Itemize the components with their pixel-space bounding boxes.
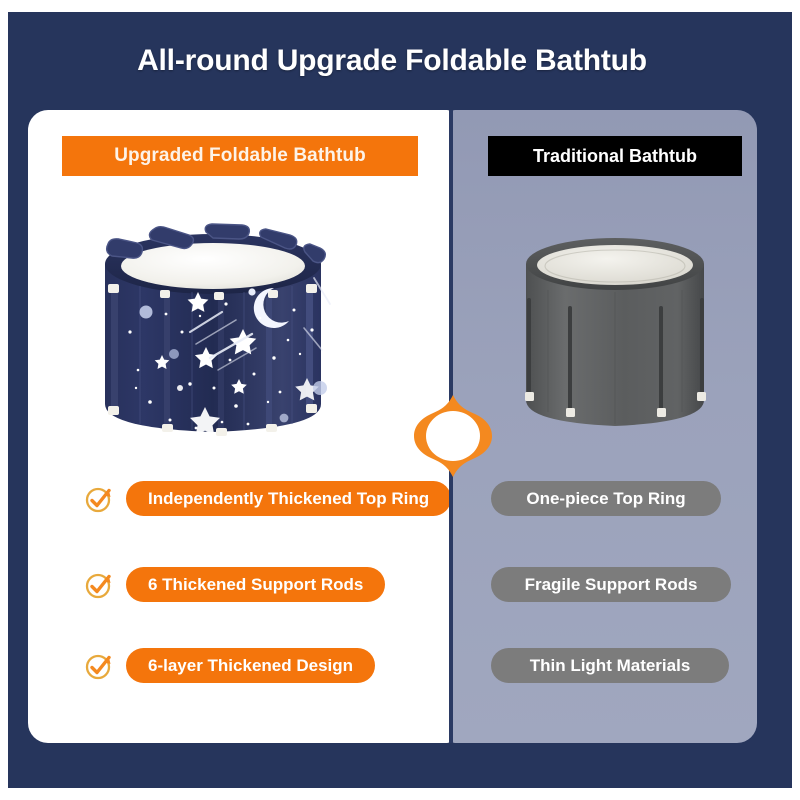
badge-traditional-bathtub: Traditional Bathtub — [488, 136, 742, 176]
feature-label-left-2: 6 Thickened Support Rods — [148, 575, 363, 595]
badge-upgraded-foldable-bathtub: Upgraded Foldable Bathtub — [62, 136, 418, 176]
product-comparison-infographic: All-round Upgrade Foldable Bathtub Upgra… — [0, 0, 800, 800]
feature-pill-right-1: One-piece Top Ring — [491, 481, 721, 516]
feature-row-left-2: 6 Thickened Support Rods — [84, 567, 385, 602]
feature-pill-right-2: Fragile Support Rods — [491, 567, 731, 602]
feature-pill-left-3: 6-layer Thickened Design — [126, 648, 375, 683]
feature-pill-right-3: Thin Light Materials — [491, 648, 729, 683]
feature-label-left-1: Independently Thickened Top Ring — [148, 489, 429, 509]
page-title: All-round Upgrade Foldable Bathtub — [0, 44, 784, 78]
badge-upgraded-label: Upgraded Foldable Bathtub — [114, 145, 366, 167]
feature-pill-left-1: Independently Thickened Top Ring — [126, 481, 451, 516]
feature-row-left-1: Independently Thickened Top Ring — [84, 481, 451, 516]
feature-label-left-3: 6-layer Thickened Design — [148, 656, 353, 676]
product-image-upgraded-bathtub — [78, 192, 348, 462]
feature-label-right-2: Fragile Support Rods — [525, 575, 698, 595]
feature-pill-left-2: 6 Thickened Support Rods — [126, 567, 385, 602]
check-circle-icon — [84, 484, 114, 514]
feature-label-right-3: Thin Light Materials — [530, 656, 691, 676]
check-circle-icon — [84, 570, 114, 600]
feature-row-left-3: 6-layer Thickened Design — [84, 648, 375, 683]
vs-badge — [412, 394, 494, 478]
product-image-traditional-bathtub — [498, 212, 733, 447]
badge-traditional-label: Traditional Bathtub — [533, 146, 697, 167]
check-circle-icon — [84, 651, 114, 681]
feature-label-right-1: One-piece Top Ring — [526, 489, 685, 509]
